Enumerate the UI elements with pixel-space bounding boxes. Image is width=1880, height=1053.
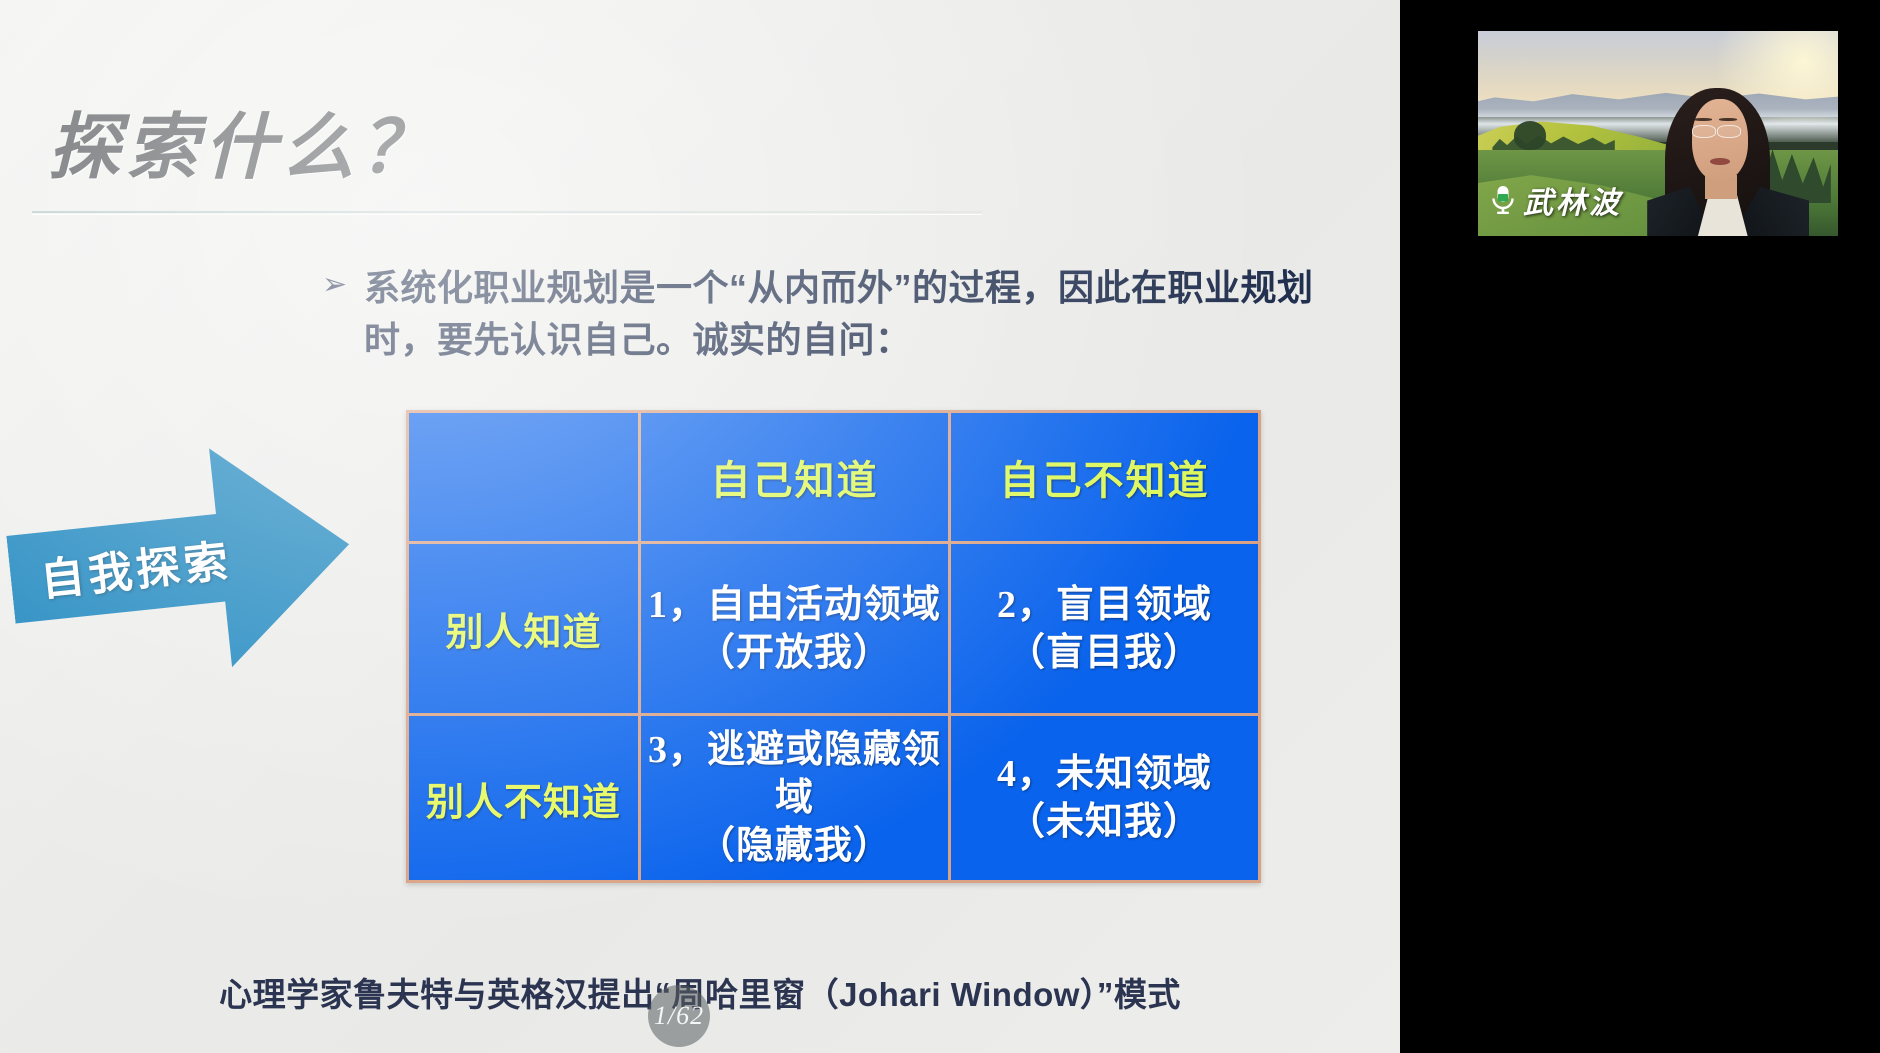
title-divider [32, 211, 982, 213]
presentation-slide: 探索什么？ ➢ 系统化职业规划是一个“从内而外”的过程，因此在职业规划时，要先认… [0, 0, 1400, 1053]
page-indicator-badge: 1/62 [648, 985, 710, 1047]
table-row: 别人不知道 3，逃避或隐藏领域（隐藏我） 4，未知领域（未知我） [408, 715, 1260, 882]
participant-panel: 武林波 [1400, 0, 1880, 1053]
participant-name-label: 武林波 [1523, 178, 1622, 222]
table-cell-blind-area: 2，盲目领域（盲目我） [950, 543, 1260, 715]
table-cell-unknown-area: 4，未知领域（未知我） [950, 715, 1260, 882]
table-column-header-known-self: 自己知道 [640, 412, 950, 543]
participant-eyebrow-left [1694, 118, 1712, 121]
table-row: 别人知道 1，自由活动领域（开放我） 2，盲目领域（盲目我） [408, 543, 1260, 715]
table-cell-hidden-area: 3，逃避或隐藏领域（隐藏我） [640, 715, 950, 882]
participant-face [1692, 99, 1748, 181]
bullet-paragraph-text: 系统化职业规划是一个“从内而外”的过程，因此在职业规划时，要先认识自己。诚实的自… [364, 262, 1362, 366]
table-header-row: 自己知道 自己不知道 [408, 412, 1260, 543]
title-divider-highlight [32, 214, 982, 215]
table-corner-cell [408, 412, 640, 543]
table-row-header-unknown-others: 别人不知道 [408, 715, 640, 882]
row-header-label: 别人知道 [415, 601, 632, 656]
row-header-label: 别人不知道 [415, 771, 632, 826]
table-cell-open-area: 1，自由活动领域（开放我） [640, 543, 950, 715]
table-row-header-known-others: 别人知道 [408, 543, 640, 715]
participant-video-tile[interactable]: 武林波 [1478, 31, 1838, 236]
quadrant-label: 2，盲目领域（盲目我） [957, 581, 1252, 677]
table-column-header-unknown-self: 自己不知道 [950, 412, 1260, 543]
bullet-arrow-icon: ➢ [322, 262, 364, 308]
bullet-paragraph: ➢ 系统化职业规划是一个“从内而外”的过程，因此在职业规划时，要先认识自己。诚实… [322, 262, 1362, 366]
microphone-active-icon [1490, 185, 1516, 215]
conference-screen-share-view: 探索什么？ ➢ 系统化职业规划是一个“从内而外”的过程，因此在职业规划时，要先认… [0, 0, 1880, 1053]
quadrant-label: 3，逃避或隐藏领域（隐藏我） [647, 726, 942, 870]
johari-window-table: 自己知道 自己不知道 别人知道 1，自由活动领域（开放我） 2，盲目领域（盲目我… [406, 410, 1261, 883]
participant-glasses-right-lens [1717, 125, 1741, 137]
participant-name-row: 武林波 [1490, 178, 1622, 222]
page-title: 探索什么？ [48, 88, 438, 193]
video-background-tree [1514, 121, 1546, 150]
self-exploration-arrow: 自我探索 [0, 435, 361, 689]
participant-glasses-left-lens [1692, 125, 1716, 137]
column-header-label: 自己知道 [647, 448, 942, 506]
quadrant-label: 4，未知领域（未知我） [957, 750, 1252, 846]
quadrant-label: 1，自由活动领域（开放我） [647, 581, 942, 677]
column-header-label: 自己不知道 [957, 448, 1252, 506]
